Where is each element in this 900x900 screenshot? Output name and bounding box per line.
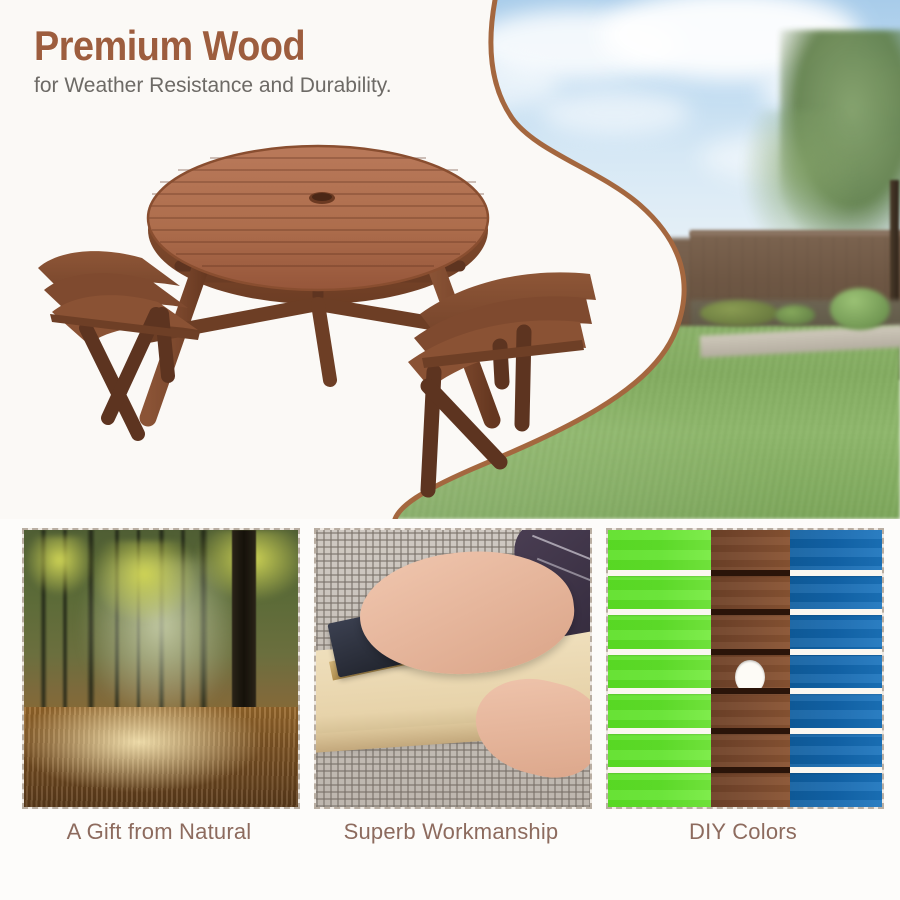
color-zone-green — [608, 530, 711, 807]
plank-gap — [790, 609, 882, 615]
plank-gap — [711, 728, 790, 734]
plank-gap — [711, 649, 790, 655]
picnic-table-illustration — [30, 118, 670, 498]
forest-photo — [24, 530, 298, 807]
plank-gap — [790, 570, 882, 576]
panel-caption: Superb Workmanship — [314, 819, 588, 845]
plank-gap — [790, 649, 882, 655]
color-zone-natural-wood — [711, 530, 790, 807]
panel-forest[interactable] — [22, 528, 300, 809]
panel-workmanship[interactable] — [314, 528, 592, 809]
panel-diy-colors[interactable] — [606, 528, 884, 809]
sanding-photo — [316, 530, 590, 807]
plank-gap — [608, 649, 711, 655]
color-zone-blue — [790, 530, 882, 807]
panel-caption: A Gift from Natural — [22, 819, 296, 845]
plank-gap — [608, 767, 711, 773]
page-title: Premium Wood — [34, 22, 356, 70]
diy-color-tabletop — [608, 530, 882, 807]
plank-gap — [608, 728, 711, 734]
plank-gap — [711, 570, 790, 576]
plank-gap — [790, 728, 882, 734]
plank-gap — [790, 688, 882, 694]
panel-caption: DIY Colors — [606, 819, 880, 845]
plank-gap — [711, 767, 790, 773]
plank-gap — [608, 609, 711, 615]
plank-gap — [711, 688, 790, 694]
page-subtitle: for Weather Resistance and Durability. — [34, 74, 392, 98]
bench-right — [408, 272, 596, 490]
plank-gap — [790, 767, 882, 773]
plank-gap — [711, 609, 790, 615]
product-infographic: Premium Wood for Weather Resistance and … — [0, 0, 900, 900]
feature-panels: A Gift from Natural Superb Workmanship D… — [0, 519, 900, 900]
plank-gap — [608, 570, 711, 576]
hero-section: Premium Wood for Weather Resistance and … — [0, 0, 900, 519]
plank-gap — [608, 688, 711, 694]
heading-block: Premium Wood for Weather Resistance and … — [34, 22, 392, 98]
